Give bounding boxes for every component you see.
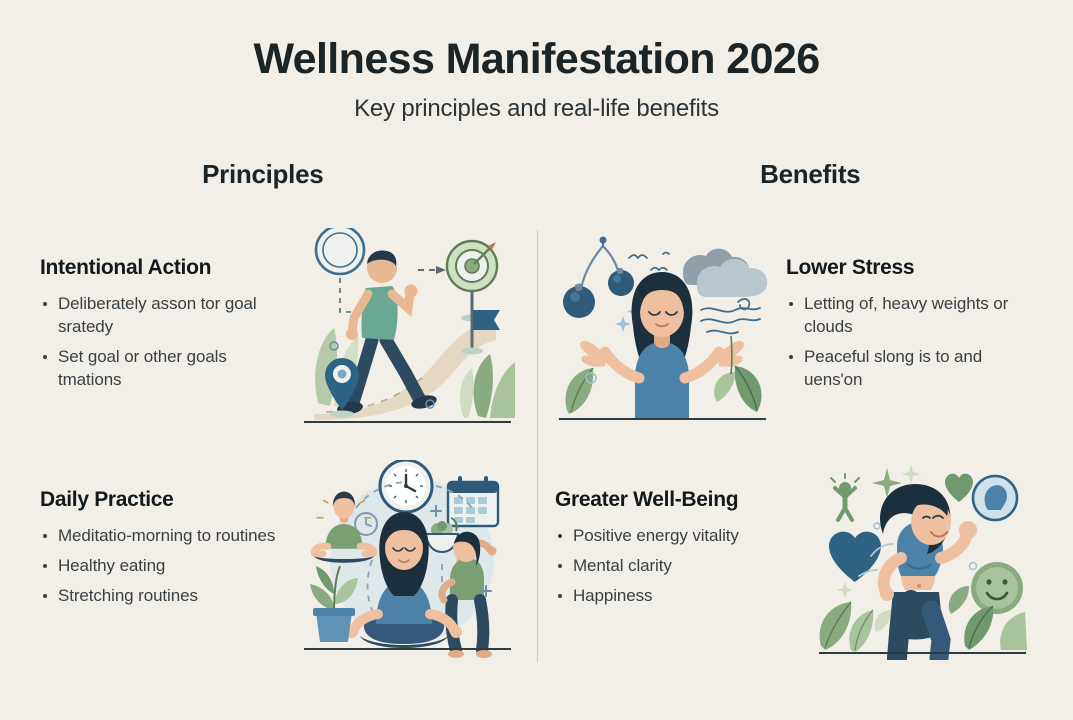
infographic-page: Wellness Manifestation 2026 Key principl… [0,0,1073,720]
column-header-benefits: Benefits [538,159,1073,190]
card-title: Lower Stress [786,256,1038,280]
card-greater-well-being: Greater Well-Being Positive energy vital… [555,460,1055,675]
list-item: Meditatio-morning to routines [40,525,292,548]
card-text-lower-stress: Lower Stress Letting of, heavy weights o… [786,228,1038,399]
card-daily-practice: Daily Practice Meditatio-morning to rout… [40,460,525,675]
meditation-clock-calendar-icon [300,460,515,660]
list-item: Positive energy vitality [555,525,805,548]
card-title: Greater Well-Being [555,488,805,512]
card-bullet-list: Positive energy vitality Mental clarity … [555,525,805,608]
card-title: Daily Practice [40,488,292,512]
list-item: Deliberately asson tor goal sratedy [40,293,292,339]
card-bullet-list: Deliberately asson tor goal sratedy Set … [40,293,292,392]
list-item: Stretching routines [40,585,292,608]
card-text-daily-practice: Daily Practice Meditatio-morning to rout… [40,460,292,615]
card-intentional-action: Intentional Action Deliberately asson to… [40,228,525,443]
list-item: Peaceful slong is to and uens'on [786,346,1038,392]
column-header-principles: Principles [0,159,538,190]
list-item: Healthy eating [40,555,292,578]
page-title: Wellness Manifestation 2026 [0,36,1073,82]
card-bullet-list: Letting of, heavy weights or clouds Peac… [786,293,1038,392]
column-headers: Principles Benefits [0,159,1073,190]
card-title: Intentional Action [40,256,292,280]
content-grid: Intentional Action Deliberately asson to… [0,228,1073,680]
list-item: Letting of, heavy weights or clouds [786,293,1038,339]
running-woman-hearts-smiley-icon [815,460,1030,660]
card-text-intentional-action: Intentional Action Deliberately asson to… [40,228,292,399]
header: Wellness Manifestation 2026 Key principl… [0,0,1073,123]
card-text-greater-well-being: Greater Well-Being Positive energy vital… [555,460,805,615]
list-item: Set goal or other goals tmations [40,346,292,392]
list-item: Happiness [555,585,805,608]
card-lower-stress: Lower Stress Letting of, heavy weights o… [555,228,1055,443]
list-item: Mental clarity [555,555,805,578]
page-subtitle: Key principles and real-life benefits [0,95,1073,123]
calm-woman-weights-clouds-icon [555,228,770,428]
card-bullet-list: Meditatio-morning to routines Healthy ea… [40,525,292,608]
walking-person-compass-target-icon [300,228,515,428]
